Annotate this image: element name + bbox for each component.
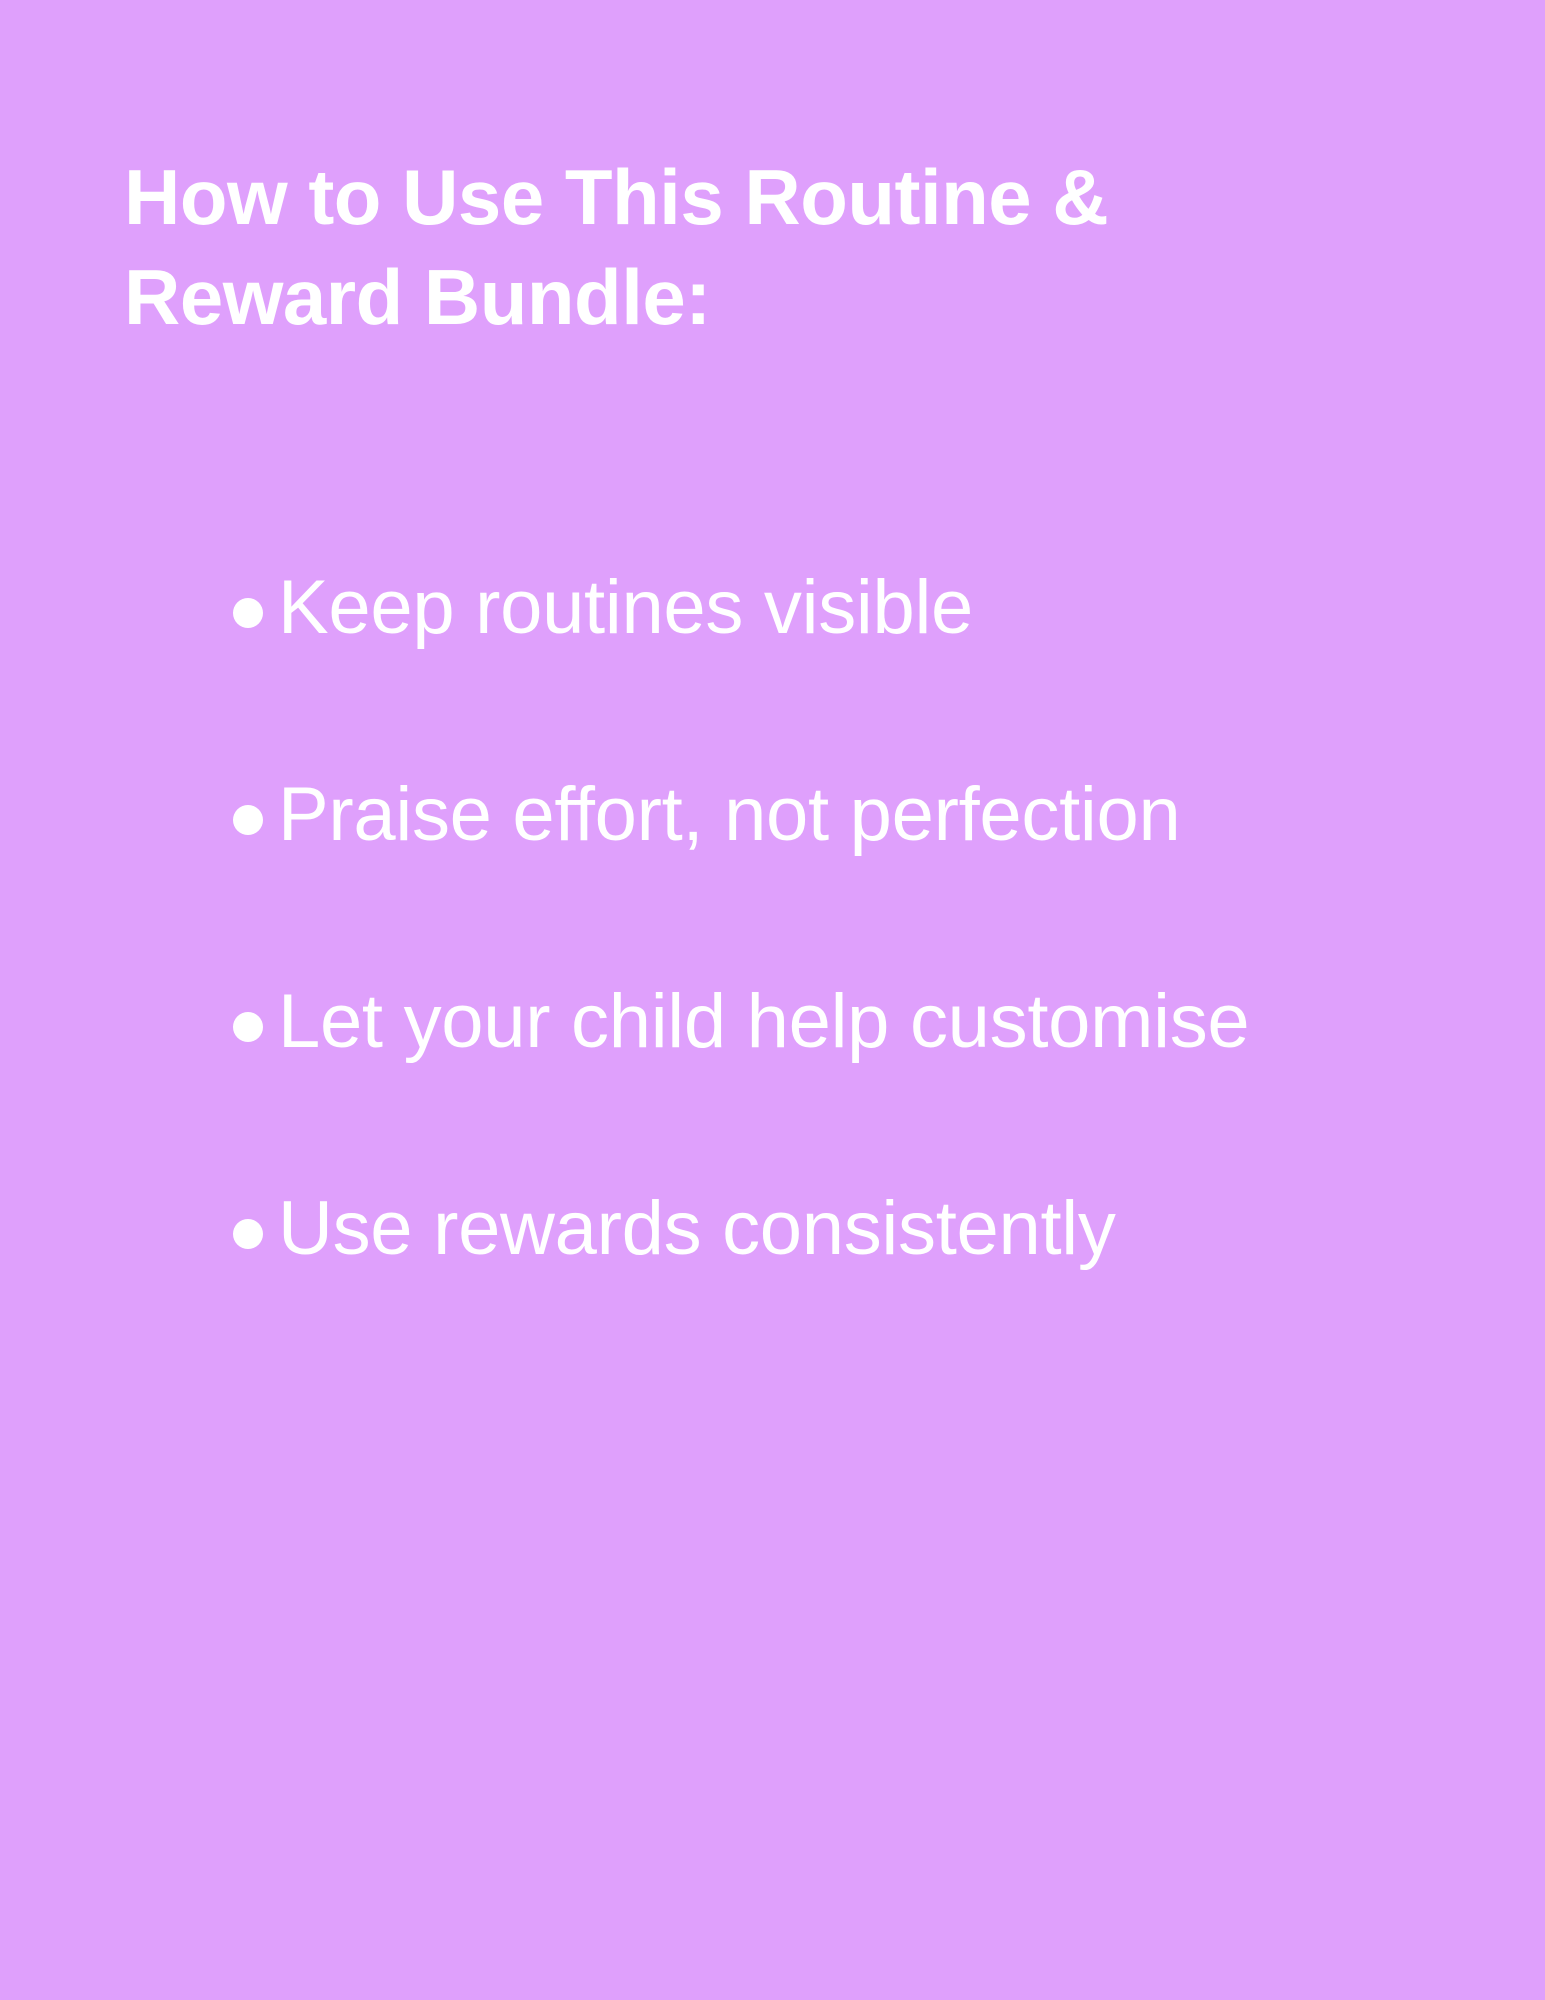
list-item: Use rewards consistently <box>186 1181 1506 1276</box>
list-item-label: Keep routines visible <box>278 560 1428 655</box>
bullet-dot-icon <box>233 598 263 628</box>
bullet-dot-icon <box>233 1012 263 1042</box>
bullet-dot-icon <box>233 805 263 835</box>
tips-list: Keep routines visible Praise effort, not… <box>186 560 1506 1276</box>
list-item: Praise effort, not perfection <box>186 767 1506 862</box>
list-item-label: Praise effort, not perfection <box>278 767 1428 862</box>
list-item-label: Use rewards consistently <box>278 1181 1428 1276</box>
slide-canvas: How to Use This Routine & Reward Bundle:… <box>0 0 1545 2000</box>
list-item: Keep routines visible <box>186 560 1506 655</box>
list-item-label: Let your child help customise <box>278 974 1428 1069</box>
list-item: Let your child help customise <box>186 974 1506 1069</box>
bullet-dot-icon <box>233 1219 263 1249</box>
page-title: How to Use This Routine & Reward Bundle: <box>124 148 1284 348</box>
